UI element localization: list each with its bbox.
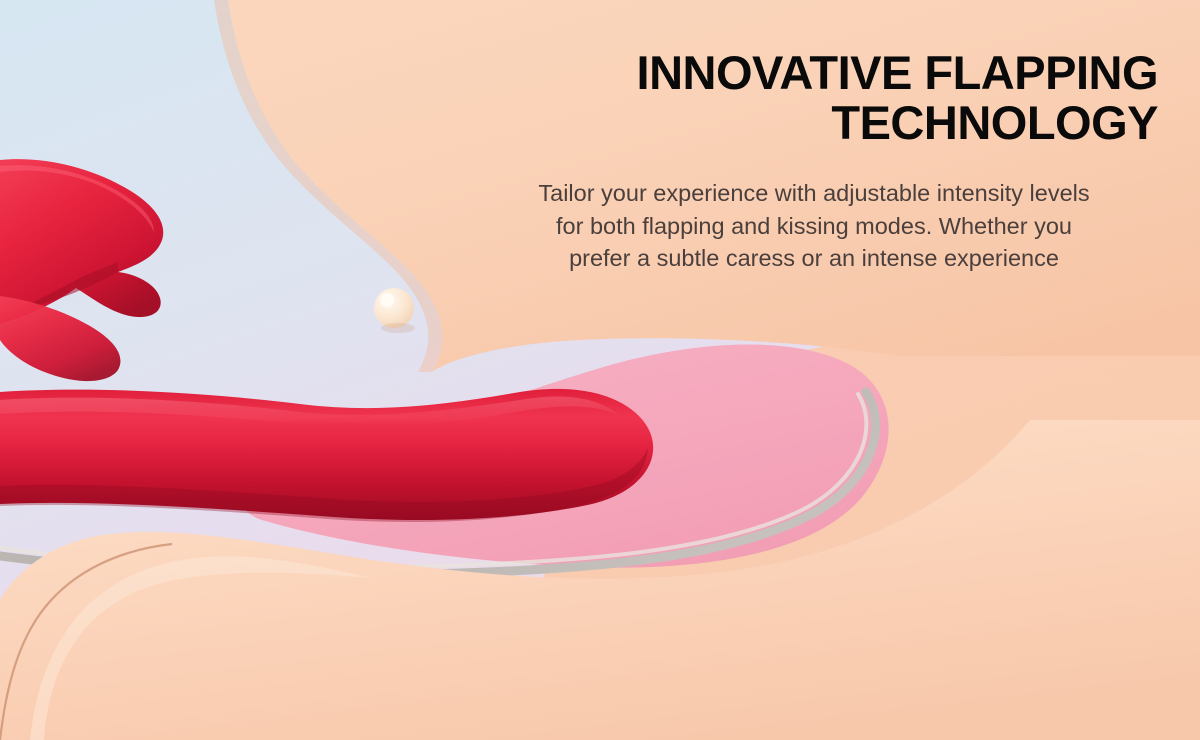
product-feature-banner: INNOVATIVE FLAPPING TECHNOLOGY Tailor yo… [0,0,1200,740]
body-text: Tailor your experience with adjustable i… [440,177,1180,276]
page-title: INNOVATIVE FLAPPING TECHNOLOGY [440,48,1180,148]
cream-bead-specular [380,293,394,307]
cream-bead-shadow [381,323,415,333]
copy-block: INNOVATIVE FLAPPING TECHNOLOGY Tailor yo… [440,48,1180,275]
cream-bead [374,288,414,328]
